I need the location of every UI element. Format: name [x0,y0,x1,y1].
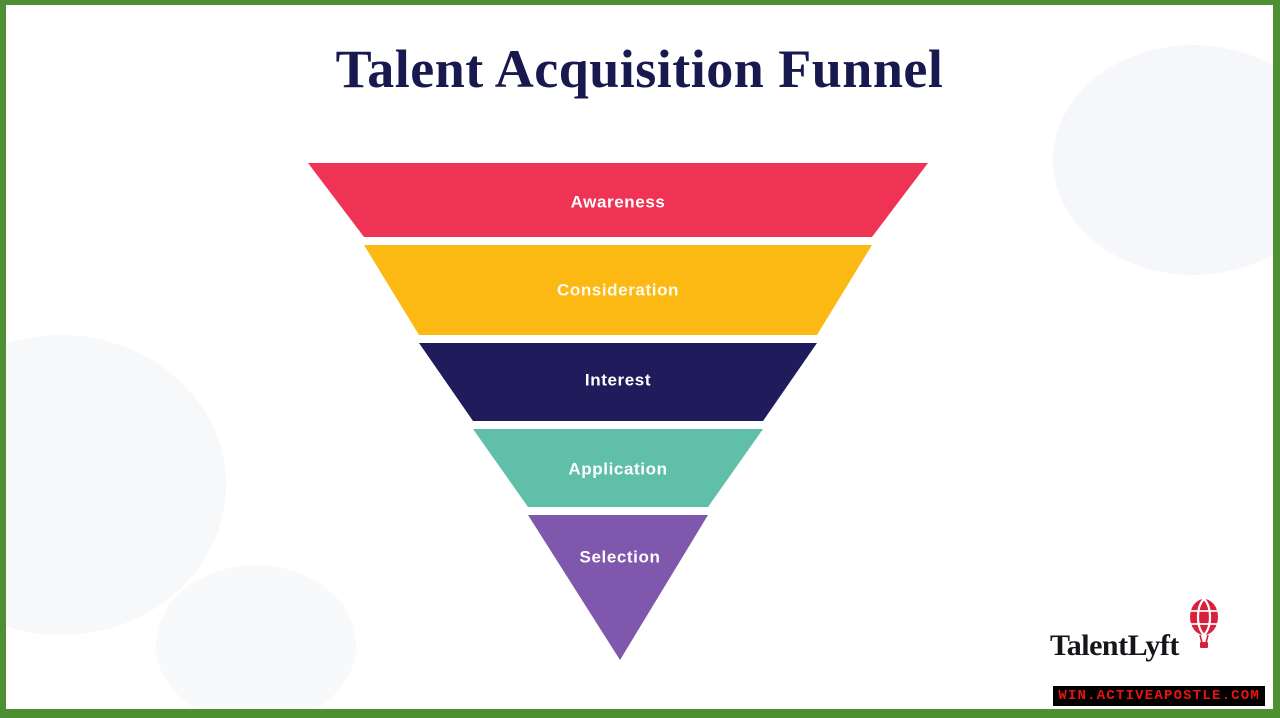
funnel-stage-interest: Interest [419,343,817,421]
talentlyft-logo: TalentLyft [1050,601,1235,663]
funnel-chart: Awareness Consideration Interest Applica… [6,155,1273,675]
watermark: WIN.ACTIVEAPOSTLE.COM [1053,686,1265,706]
image-frame: Talent Acquisition Funnel Awareness Cons… [6,5,1273,709]
funnel-stage-application: Application [473,429,763,507]
funnel-stage-selection: Selection [528,515,708,660]
hot-air-balloon-icon [1181,597,1227,653]
funnel-stage-interest-label: Interest [585,370,651,389]
funnel-stage-selection-shape [528,515,708,660]
funnel-stage-selection-label: Selection [580,547,661,566]
funnel-stage-consideration-label: Consideration [557,280,679,299]
funnel-stage-awareness: Awareness [308,163,928,237]
funnel-stage-application-label: Application [568,459,667,478]
watermark-text: WIN.ACTIVEAPOSTLE.COM [1058,689,1260,703]
logo-wordmark: TalentLyft [1050,629,1179,663]
page-title: Talent Acquisition Funnel [6,38,1273,100]
funnel-stage-consideration: Consideration [364,245,872,335]
funnel-stage-awareness-label: Awareness [571,192,666,211]
